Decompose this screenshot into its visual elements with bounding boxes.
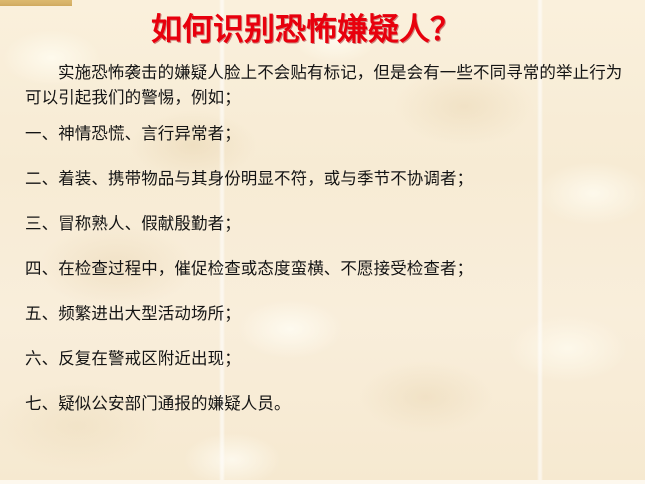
list-item: 七、疑似公安部门通报的嫌疑人员。 — [25, 391, 625, 416]
list-item: 二、着装、携带物品与其身份明显不符，或与季节不协调者； — [25, 166, 625, 191]
list-item: 六、反复在警戒区附近出现； — [25, 346, 625, 371]
intro-paragraph: 实施恐怖袭击的嫌疑人脸上不会贴有标记，但是会有一些不同寻常的举止行为可以引起我们… — [25, 60, 625, 110]
list-item: 一、神情恐慌、言行异常者； — [25, 121, 625, 146]
slide-body: 实施恐怖袭击的嫌疑人脸上不会贴有标记，但是会有一些不同寻常的举止行为可以引起我们… — [25, 60, 625, 416]
list-item: 三、冒称熟人、假献殷勤者； — [25, 211, 625, 236]
bottom-edge-strip — [0, 480, 645, 484]
slide-canvas: 如何识别恐怖嫌疑人？ 实施恐怖袭击的嫌疑人脸上不会贴有标记，但是会有一些不同寻常… — [0, 0, 645, 484]
gold-accent-bar — [0, 0, 72, 6]
page-title: 如何识别恐怖嫌疑人？ — [0, 8, 612, 52]
list-item: 四、在检查过程中，催促检查或态度蛮横、不愿接受检查者； — [25, 256, 625, 281]
list-item: 五、频繁进出大型活动场所； — [25, 301, 625, 326]
